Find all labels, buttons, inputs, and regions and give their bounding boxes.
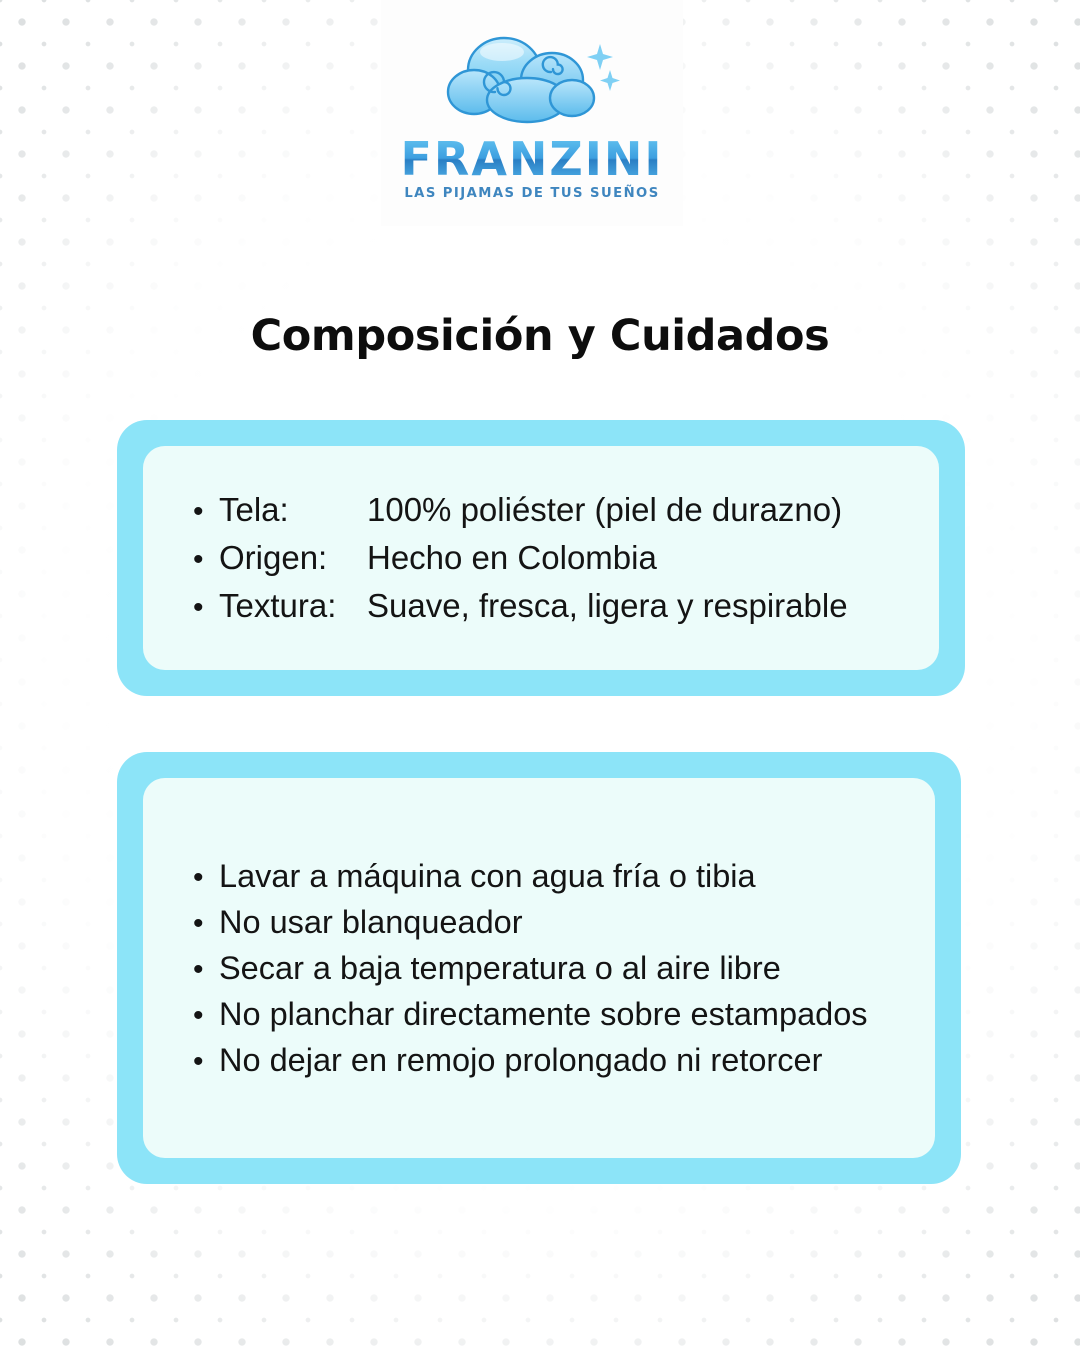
sparkle-icon	[587, 44, 620, 91]
spec-label: Tela:	[219, 486, 367, 534]
care-instructions-card-body: • Lavar a máquina con agua fría o tibia …	[143, 778, 935, 1158]
composition-list: • Tela: 100% poliéster (piel de durazno)…	[143, 486, 939, 631]
brand-wordmark: FRANZINI	[400, 136, 663, 182]
list-item: • No usar blanqueador	[193, 899, 935, 945]
care-instruction-text: Lavar a máquina con agua fría o tibia	[219, 853, 756, 899]
brand-logo: FRANZINI LAS PIJAMAS DE TUS SUEÑOS	[381, 0, 683, 226]
bullet-icon: •	[193, 497, 219, 527]
bullet-icon: •	[193, 1047, 219, 1077]
list-item: • Secar a baja temperatura o al aire lib…	[193, 945, 935, 991]
spec-value: Hecho en Colombia	[367, 534, 657, 582]
list-item: • No dejar en remojo prolongado ni retor…	[193, 1037, 935, 1083]
spec-value: Suave, fresca, ligera y respirable	[367, 582, 848, 630]
bullet-icon: •	[193, 909, 219, 939]
page-title: Composición y Cuidados	[0, 311, 1080, 361]
composition-card: • Tela: 100% poliéster (piel de durazno)…	[117, 420, 965, 696]
spec-label: Textura:	[219, 582, 367, 630]
care-instruction-text: Secar a baja temperatura o al aire libre	[219, 945, 781, 991]
list-item: • Tela: 100% poliéster (piel de durazno)	[193, 486, 939, 534]
list-item: • Origen: Hecho en Colombia	[193, 534, 939, 582]
care-instruction-text: No planchar directamente sobre estampado…	[219, 991, 868, 1037]
care-instructions-card: • Lavar a máquina con agua fría o tibia …	[117, 752, 961, 1184]
spec-label: Origen:	[219, 534, 367, 582]
care-instruction-text: No dejar en remojo prolongado ni retorce…	[219, 1037, 822, 1083]
list-item: • No planchar directamente sobre estampa…	[193, 991, 935, 1037]
care-instructions-list: • Lavar a máquina con agua fría o tibia …	[143, 853, 935, 1084]
care-instruction-text: No usar blanqueador	[219, 899, 523, 945]
bullet-icon: •	[193, 1001, 219, 1031]
bullet-icon: •	[193, 593, 219, 623]
spec-value: 100% poliéster (piel de durazno)	[367, 486, 842, 534]
bullet-icon: •	[193, 545, 219, 575]
cloud-icon	[432, 30, 632, 130]
composition-card-body: • Tela: 100% poliéster (piel de durazno)…	[143, 446, 939, 670]
bullet-icon: •	[193, 955, 219, 985]
brand-tagline: LAS PIJAMAS DE TUS SUEÑOS	[404, 187, 659, 200]
list-item: • Lavar a máquina con agua fría o tibia	[193, 853, 935, 899]
list-item: • Textura: Suave, fresca, ligera y respi…	[193, 582, 939, 630]
poster-canvas: FRANZINI LAS PIJAMAS DE TUS SUEÑOS Compo…	[0, 0, 1080, 1350]
bullet-icon: •	[193, 863, 219, 893]
